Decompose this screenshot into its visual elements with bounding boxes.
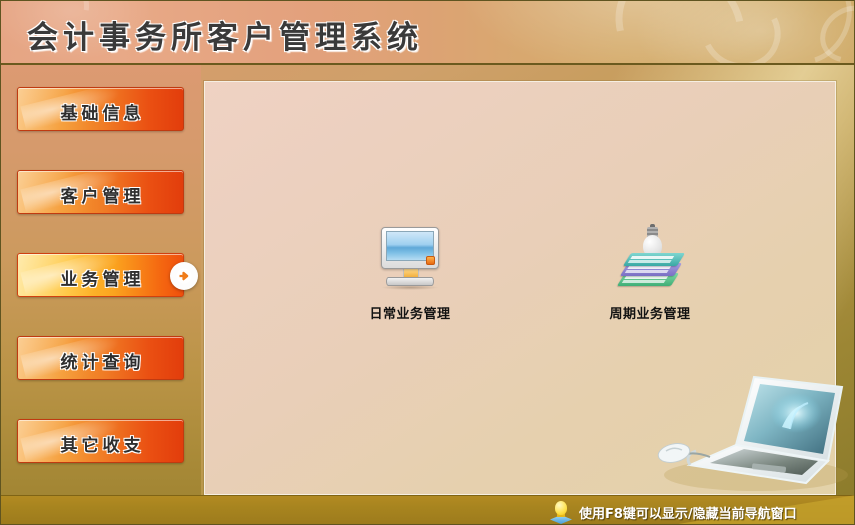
sidebar-item-label: 其它收支 [18,431,183,456]
lightbulb-icon [550,500,572,524]
sidebar-item-label: 基础信息 [18,99,183,124]
sidebar-item-label: 统计查询 [18,348,183,373]
sidebar-item-other-income-expense[interactable]: 其它收支 [17,419,184,463]
application-window: 会计事务所客户管理系统 基础信息 客户管理 业务管理 [0,0,855,525]
sidebar-item-label: 客户管理 [18,182,183,207]
sidebar-item-statistics-query[interactable]: 统计查询 [17,336,184,380]
status-bar: 使用F8键可以显示/隐藏当前导航窗口 [1,495,855,525]
module-icon-daily-business[interactable]: 日常业务管理 [345,227,475,322]
monitor-icon [345,227,475,293]
app-header: 会计事务所客户管理系统 [1,1,855,65]
module-icon-label: 周期业务管理 [585,303,715,322]
arrow-right-icon [170,262,198,290]
main-content-panel: 日常业务管理 周期业务管理 [204,81,836,495]
page-title: 会计事务所客户管理系统 [27,12,423,57]
sidebar-item-customer-management[interactable]: 客户管理 [17,170,184,214]
navigation-sidebar: 基础信息 客户管理 业务管理 统计查询 [1,65,201,525]
status-hint-text: 使用F8键可以显示/隐藏当前导航窗口 [579,503,797,522]
sidebar-item-label: 业务管理 [18,265,183,290]
module-icon-periodic-business[interactable]: 周期业务管理 [585,227,715,322]
sidebar-item-business-management[interactable]: 业务管理 [17,253,184,297]
module-icon-label: 日常业务管理 [345,303,475,322]
books-bulb-icon [585,227,715,293]
body-area: 基础信息 客户管理 业务管理 统计查询 [1,65,855,525]
sidebar-item-basic-info[interactable]: 基础信息 [17,87,184,131]
